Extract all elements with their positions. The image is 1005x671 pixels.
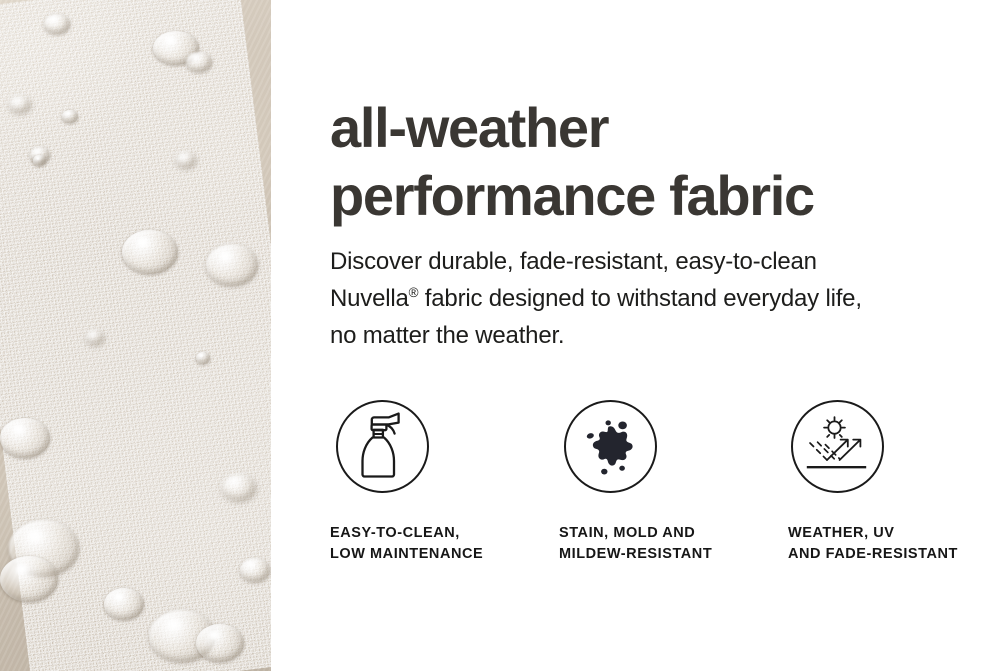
feature-label: STAIN, MOLD AND MILDEW-RESISTANT <box>559 493 788 565</box>
water-droplet <box>206 244 258 286</box>
feature-item-stain-resistant: STAIN, MOLD AND MILDEW-RESISTANT <box>559 400 788 565</box>
body-line-2: fabric designed to withstand everyday li… <box>418 285 861 312</box>
water-droplet <box>222 474 256 501</box>
water-droplet <box>104 588 144 620</box>
feature-list: EASY-TO-CLEAN, LOW MAINTENANCE STAIN, MO… <box>330 400 990 565</box>
feature-label: EASY-TO-CLEAN, LOW MAINTENANCE <box>330 493 559 565</box>
promo-content: all-weatherperformance fabric Discover d… <box>330 0 990 671</box>
stain-splatter-icon <box>578 414 644 480</box>
water-droplet <box>122 230 178 274</box>
feature-label: WEATHER, UV AND FADE-RESISTANT <box>788 493 990 565</box>
icon-badge <box>791 400 884 493</box>
water-droplet <box>33 155 46 166</box>
water-droplet <box>186 52 212 72</box>
promo-banner: all-weatherperformance fabric Discover d… <box>0 0 1005 671</box>
icon-badge <box>564 400 657 493</box>
water-droplet <box>0 418 50 458</box>
brand-name: Nuvella <box>330 285 409 312</box>
headline-line-2: performance fabric <box>330 164 814 227</box>
headline-line-1: all-weather <box>330 96 608 159</box>
water-droplet <box>0 556 58 602</box>
water-droplet <box>176 152 196 168</box>
water-droplet <box>44 14 70 34</box>
water-droplet <box>196 352 210 364</box>
water-droplet <box>62 110 78 123</box>
icon-badge <box>336 400 429 493</box>
spray-bottle-icon <box>352 411 414 483</box>
feature-item-easy-to-clean: EASY-TO-CLEAN, LOW MAINTENANCE <box>330 400 559 565</box>
body-copy: Discover durable, fade-resistant, easy-t… <box>330 243 970 354</box>
water-droplet <box>240 558 270 582</box>
feature-item-weather-uv-resistant: WEATHER, UV AND FADE-RESISTANT <box>788 400 990 565</box>
body-line-1: Discover durable, fade-resistant, easy-t… <box>330 248 817 275</box>
page-title: all-weatherperformance fabric <box>330 94 990 230</box>
fabric-photo <box>0 0 271 671</box>
water-droplet <box>86 330 104 345</box>
body-line-3: no matter the weather. <box>330 322 564 349</box>
water-droplet <box>9 96 31 113</box>
sun-uv-reflect-icon <box>803 414 873 480</box>
water-droplet <box>196 624 244 662</box>
registered-trademark-symbol: ® <box>409 285 419 300</box>
